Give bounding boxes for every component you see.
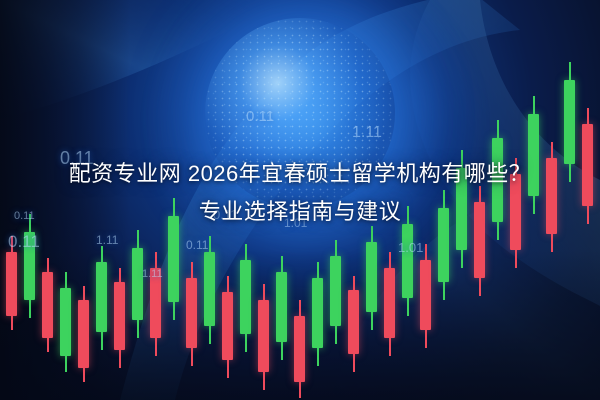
price-label: 1.11 xyxy=(96,233,118,247)
price-label: 0.11 xyxy=(8,232,40,252)
price-label: 0.11 xyxy=(186,238,208,252)
price-label: 1.11 xyxy=(352,124,382,142)
price-label: 1.01 xyxy=(398,240,423,255)
price-label: 0.11 xyxy=(246,108,274,125)
price-label: 1.11 xyxy=(142,268,163,280)
headline-line-2: 专业选择指南与建议 xyxy=(0,193,600,231)
banner-image: 0.111.110.110.111.010.111.110.111.010.11… xyxy=(0,0,600,400)
headline-text: 配资专业网 2026年宜春硕士留学机构有哪些？ 专业选择指南与建议 xyxy=(0,155,600,231)
headline-line-1: 配资专业网 2026年宜春硕士留学机构有哪些？ xyxy=(0,155,600,193)
